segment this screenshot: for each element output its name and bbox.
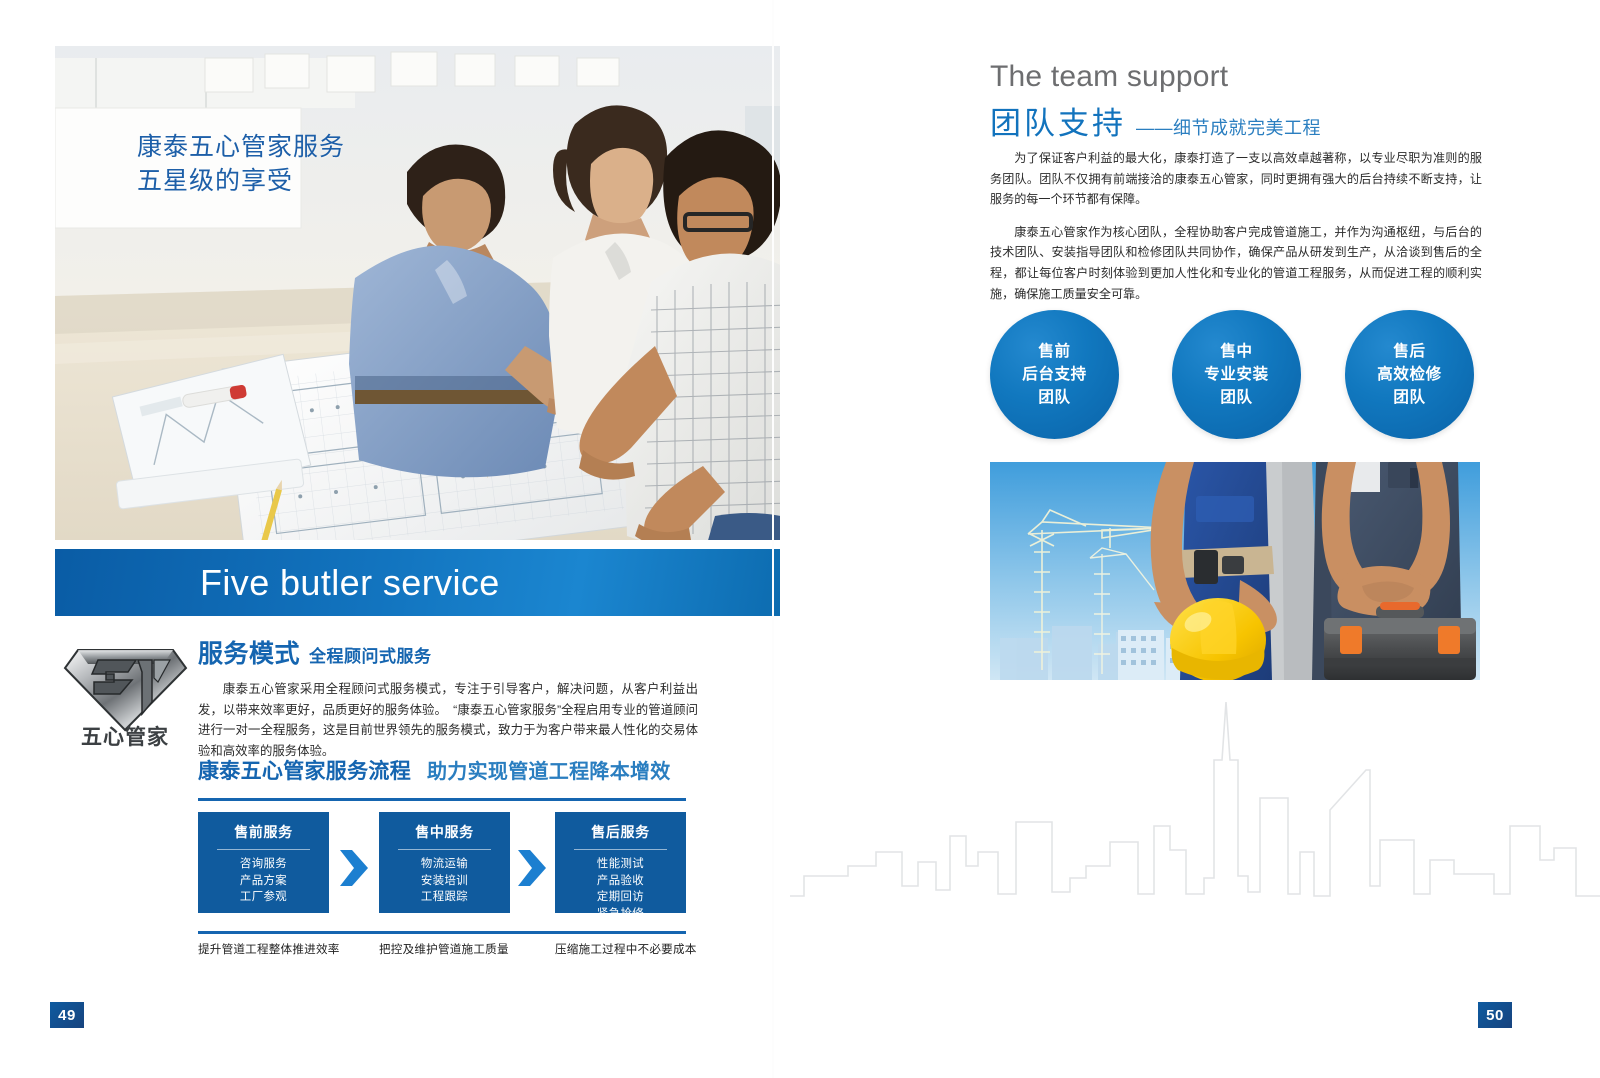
left-page: 康泰五心管家服务 五星级的享受 Five butler service	[0, 0, 790, 1078]
construction-workers-photo	[990, 462, 1480, 680]
flow-caption: 压缩施工过程中不必要成本	[555, 941, 697, 957]
team-circle-line-2: 高效检修	[1377, 363, 1441, 386]
team-circle-line-3: 团队	[1220, 386, 1252, 409]
service-flow-heading-sub: 助力实现管道工程降本增效	[427, 755, 671, 784]
team-circle-line-2: 专业安装	[1204, 363, 1268, 386]
hero-title-line-1: 康泰五心管家服务	[137, 130, 345, 164]
team-support-paragraph-1: 为了保证客户利益的最大化，康泰打造了一支以高效卓越著称，以专业尽职为准则的服务团…	[990, 148, 1482, 210]
team-circle-line-1: 售中	[1220, 340, 1252, 363]
service-mode-paragraph: 康泰五心管家采用全程顾问式服务模式，专注于引导客户，解决问题，从客户利益出发，以…	[198, 679, 698, 761]
city-skyline-watermark-icon	[790, 700, 1600, 900]
team-support-heading-cn-row: 团队支持 ——细节成就完美工程	[990, 98, 1490, 143]
service-flow-heading-main: 康泰五心管家服务流程	[198, 755, 411, 785]
flow-box-item: 工程跟踪	[379, 889, 510, 906]
hero-photo: 康泰五心管家服务 五星级的享受	[55, 46, 780, 540]
page-number-right: 50	[1478, 1002, 1512, 1028]
svg-text:五心管家: 五心管家	[81, 725, 169, 748]
team-support-heading-cn: 团队支持	[990, 98, 1126, 143]
hero-title-line-2: 五星级的享受	[137, 164, 345, 198]
team-circle-line-2: 后台支持	[1022, 363, 1086, 386]
chevron-right-icon	[516, 848, 548, 888]
chevron-right-icon	[338, 848, 370, 888]
flow-box-title: 售后服务	[555, 822, 686, 842]
service-mode-heading-main: 服务模式	[198, 634, 300, 670]
team-support-paragraph-2: 康泰五心管家作为核心团队，全程协助客户完成管道施工，并作为沟通枢纽，与后台的技术…	[990, 222, 1482, 304]
flow-box-item: 产品验收	[555, 873, 686, 890]
team-circles: 售前 后台支持 团队 售中 专业安装 团队 售后 高效检修 团队	[990, 310, 1482, 442]
flow-box-divider	[217, 849, 310, 850]
flow-box-aftersale[interactable]: 售后服务 性能测试 产品验收 定期回访 紧急抢修	[555, 812, 686, 913]
team-circle-line-3: 团队	[1393, 386, 1425, 409]
wuxin-butler-logo-icon: 五心管家	[58, 630, 193, 748]
team-support-body: 为了保证客户利益的最大化，康泰打造了一支以高效卓越著称，以专业尽职为准则的服务团…	[990, 148, 1482, 316]
flow-box-item: 工厂参观	[198, 889, 329, 906]
team-support-heading-en: The team support	[990, 58, 1490, 96]
service-mode-heading: 服务模式 全程顾问式服务	[198, 634, 698, 670]
team-support-heading-cn-sub: ——细节成就完美工程	[1136, 114, 1321, 140]
flow-bottom-rule	[198, 931, 686, 934]
flow-box-item: 咨询服务	[198, 856, 329, 873]
flow-caption: 把控及维护管道施工质量	[379, 941, 509, 957]
flow-box-item: 紧急抢修	[555, 906, 686, 923]
service-flow-section-heading: 康泰五心管家服务流程 助力实现管道工程降本增效	[198, 755, 698, 785]
team-support-header: The team support 团队支持 ——细节成就完美工程	[990, 58, 1490, 143]
flow-box-presale[interactable]: 售前服务 咨询服务 产品方案 工厂参观	[198, 812, 329, 913]
banner-title: Five butler service	[200, 562, 500, 604]
team-circle-presale[interactable]: 售前 后台支持 团队	[990, 310, 1119, 439]
team-circle-line-3: 团队	[1038, 386, 1070, 409]
right-page: The team support 团队支持 ——细节成就完美工程 为了保证客户利…	[790, 0, 1600, 1078]
team-circle-line-1: 售后	[1393, 340, 1425, 363]
hero-title: 康泰五心管家服务 五星级的享受	[137, 130, 345, 198]
flow-box-item: 产品方案	[198, 873, 329, 890]
flow-box-item: 性能测试	[555, 856, 686, 873]
team-circle-insale[interactable]: 售中 专业安装 团队	[1172, 310, 1301, 439]
flow-boxes-row: 售前服务 咨询服务 产品方案 工厂参观 售中服务 物流运输 安装培训	[198, 812, 686, 927]
service-flow-heading: 康泰五心管家服务流程 助力实现管道工程降本增效	[198, 755, 698, 785]
flow-box-title: 售前服务	[198, 822, 329, 842]
service-flow-diagram: 售前服务 咨询服务 产品方案 工厂参观 售中服务 物流运输 安装培训	[198, 798, 686, 967]
brochure-spread: 康泰五心管家服务 五星级的享受 Five butler service	[0, 0, 1600, 1078]
service-mode-section: 服务模式 全程顾问式服务 康泰五心管家采用全程顾问式服务模式，专注于引导客户，解…	[198, 634, 698, 761]
service-mode-heading-sub: 全程顾问式服务	[309, 642, 432, 667]
team-circle-aftersale[interactable]: 售后 高效检修 团队	[1345, 310, 1474, 439]
flow-captions-row: 提升管道工程整体推进效率 把控及维护管道施工质量 压缩施工过程中不必要成本	[198, 941, 686, 967]
flow-box-item: 定期回访	[555, 889, 686, 906]
flow-box-title: 售中服务	[379, 822, 510, 842]
flow-box-item: 物流运输	[379, 856, 510, 873]
team-circle-line-1: 售前	[1038, 340, 1070, 363]
section-banner: Five butler service	[55, 549, 780, 616]
flow-top-rule	[198, 798, 686, 801]
page-number-left: 49	[50, 1002, 84, 1028]
flow-caption: 提升管道工程整体推进效率	[198, 941, 340, 957]
flow-box-divider	[398, 849, 491, 850]
page-gutter	[772, 0, 774, 1078]
flow-box-divider	[574, 849, 667, 850]
flow-box-item: 安装培训	[379, 873, 510, 890]
flow-box-insale[interactable]: 售中服务 物流运输 安装培训 工程跟踪	[379, 812, 510, 913]
